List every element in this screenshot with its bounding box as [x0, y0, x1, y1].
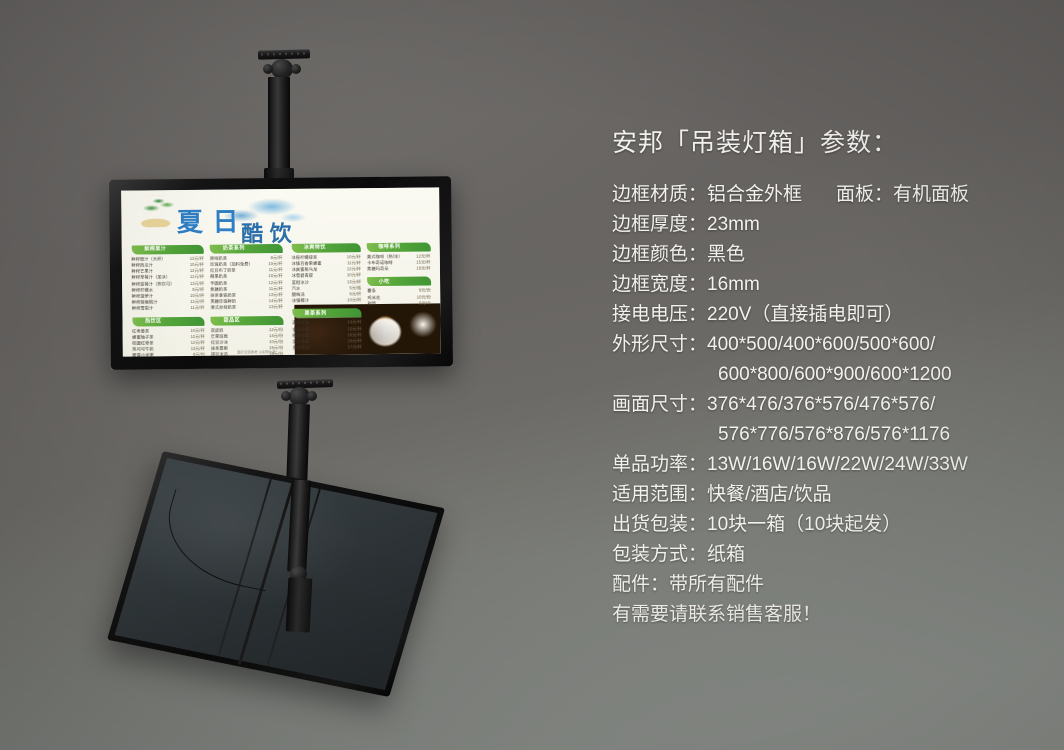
menu-section-header: 咖啡系列 [367, 242, 431, 252]
spec-row: 单品功率：13W/16W/16W/22W/24W/33W [612, 450, 1052, 480]
spec-value: 16mm [707, 270, 760, 300]
spec-row: 配件：带所有配件 [612, 570, 1052, 600]
specification-panel: 安邦「吊装灯箱」参数： 边框材质：铝合金外框面板：有机面板边框厚度：23mm边框… [612, 126, 1052, 630]
menu-section-title: 热饮区 [145, 317, 162, 325]
spec-row: 边框颜色：黑色 [612, 240, 1052, 270]
menu-item-name: 甜筒 [367, 301, 376, 307]
menu-sections-container: 鲜榨果汁鲜榨橙汁（大杯）12元/杯鲜榨西瓜汁10元/杯鲜榨芒果汁12元/杯鲜榨草… [131, 242, 434, 353]
menu-section-header: 甜品区 [211, 316, 284, 326]
spec-label: 画面尺寸： [612, 390, 707, 420]
menu-item-price: 16元/杯 [412, 266, 430, 272]
spec-value: 23mm [707, 210, 760, 240]
menu-section-header: 小吃 [367, 277, 431, 287]
spec-value: 纸箱 [707, 540, 745, 570]
menu-item-row: 甜筒5元/个 [367, 300, 430, 307]
spec-label: 单品功率： [612, 450, 707, 480]
spec-row: 边框宽度：16mm [612, 270, 1052, 300]
panel-bracket-bottom [286, 577, 313, 632]
menu-section-header: 奶茶系列 [210, 244, 283, 254]
menu-section-title: 鲜榨果汁 [144, 245, 166, 253]
spec-label: 边框厚度： [612, 210, 707, 240]
menu-item-row: 鲜榨雪梨汁11元/杯 [132, 305, 205, 312]
menu-section-header: 冰爽特饮 [291, 243, 361, 253]
menu-section-title: 甜品区 [224, 316, 241, 324]
spec-label: 边框材质： [612, 180, 707, 210]
menu-item-name: 多肉葡萄 [292, 345, 309, 351]
menu-section: 冰爽特饮冰摇柠檬绿茶10元/杯冰镇百香果蜂蜜11元/杯冰爽蜜桃乌龙12元/杯冰雪… [291, 243, 361, 304]
menu-section-header: 果茶系列 [292, 309, 362, 319]
menu-item-price: 11元/杯 [186, 305, 204, 311]
spec-extra-label: 面板： [802, 180, 893, 210]
spec-value: 220V（直接插电即可） [707, 300, 903, 330]
spec-value: 快餐/酒店/饮品 [707, 480, 832, 510]
spec-value: 13W/16W/16W/22W/24W/33W [707, 450, 968, 480]
menu-poster: 夏 日 酷 饮 鲜榨果汁鲜榨橙汁（大杯）12元/杯鲜榨西瓜汁10元/杯鲜榨芒果汁… [121, 187, 441, 356]
spec-value: 376*476/376*576/476*576/ [707, 390, 935, 420]
spec-value-continuation: 600*800/600*900/600*1200 [612, 360, 1052, 390]
spec-row: 适用范围：快餐/酒店/饮品 [612, 480, 1052, 510]
contact-note: 有需要请联系销售客服！ [612, 600, 1052, 630]
menu-item-price: 8元/份 [189, 352, 205, 356]
spec-row: 接电电压：220V（直接插电即可） [612, 300, 1052, 330]
product-photo-canvas: 夏 日 酷 饮 鲜榨果汁鲜榨橙汁（大杯）12元/杯鲜榨西瓜汁10元/杯鲜榨芒果汁… [0, 0, 1064, 750]
spec-row: 画面尺寸：376*476/376*576/476*576/ [612, 390, 1052, 420]
spec-label: 接电电压： [612, 300, 707, 330]
spec-label: 外形尺寸： [612, 330, 707, 360]
spec-value: 10块一箱（10块起发） [707, 510, 901, 540]
poster-title-char-2: 日 [212, 201, 237, 238]
drop-pole-bottom [286, 404, 310, 485]
menu-item-price: 17元/杯 [344, 344, 362, 350]
menu-item-price: 5元/个 [415, 300, 431, 306]
poster-title-char-1: 夏 [177, 202, 202, 239]
spec-value: 铝合金外框 [707, 180, 802, 210]
menu-section-title: 咖啡系列 [378, 243, 400, 251]
spec-row: 出货包装：10块一箱（10块起发） [612, 510, 1052, 540]
menu-item-name: 提拉米苏 [211, 352, 228, 357]
spec-label: 适用范围： [612, 480, 707, 510]
specification-list: 边框材质：铝合金外框面板：有机面板边框厚度：23mm边框颜色：黑色边框宽度：16… [612, 180, 1052, 600]
spec-row: 边框材质：铝合金外框面板：有机面板 [612, 180, 1052, 210]
power-cable [151, 490, 289, 592]
spec-label: 配件： [612, 570, 669, 600]
drop-pole-top [268, 77, 290, 181]
spec-value: 带所有配件 [669, 570, 764, 600]
spec-value: 400*500/400*600/500*600/ [707, 330, 935, 360]
spec-row: 包装方式：纸箱 [612, 540, 1052, 570]
lightbox-front-view: 夏 日 酷 饮 鲜榨果汁鲜榨橙汁（大杯）12元/杯鲜榨西瓜汁10元/杯鲜榨芒果汁… [109, 176, 453, 370]
lightbox-rear-view [107, 451, 445, 697]
spec-label: 边框颜色： [612, 240, 707, 270]
spec-row: 外形尺寸：400*500/400*600/500*600/ [612, 330, 1052, 360]
menu-section-title: 奶茶系列 [223, 245, 245, 253]
spec-label: 边框宽度： [612, 270, 707, 300]
menu-section: 鲜榨果汁鲜榨橙汁（大杯）12元/杯鲜榨西瓜汁10元/杯鲜榨芒果汁12元/杯鲜榨草… [131, 245, 204, 313]
spec-label: 包装方式： [612, 540, 707, 570]
ceiling-mount-plate-top [258, 49, 310, 59]
menu-section-title: 小吃 [379, 278, 390, 286]
menu-item-row: 港式丝袜奶茶13元/杯 [210, 304, 283, 311]
swivel-knob-right-bottom [307, 391, 317, 401]
menu-section: 小吃薯条8元/份鸡米花10元/份甜筒5元/个 [367, 277, 431, 307]
swivel-knob-right-top [291, 64, 301, 74]
menu-item-name: 冰镇椰汁 [292, 298, 309, 304]
swivel-joint-top [271, 59, 293, 79]
menu-item-row: 暖胃小米粥8元/份 [132, 352, 205, 356]
menu-section: 热饮区红枣姜茶10元/杯蜂蜜柚子茶12元/杯桂圆红枣茶12元/杯热可可牛奶13元… [132, 316, 205, 356]
poster-title-art: 夏 日 酷 饮 [134, 192, 313, 247]
menu-section-header: 鲜榨果汁 [131, 245, 204, 255]
poster-credit-text: 图片仅供参考 以实物为准 [237, 349, 275, 354]
menu-item-row: 多肉葡萄17元/杯 [292, 344, 362, 351]
spec-row: 边框厚度：23mm [612, 210, 1052, 240]
lightbox-rear-frame [107, 451, 445, 697]
rear-support-rail-left [217, 479, 271, 656]
menu-section-title: 冰爽特饮 [304, 244, 326, 252]
menu-item-price: 13元/杯 [265, 304, 283, 310]
menu-item-name: 暖胃小米粥 [132, 353, 154, 357]
menu-item-name: 港式丝袜奶茶 [210, 305, 236, 311]
lightbox-panel-screen: 夏 日 酷 饮 鲜榨果汁鲜榨橙汁（大杯）12元/杯鲜榨西瓜汁10元/杯鲜榨芒果汁… [121, 187, 441, 356]
menu-item-price: 10元/杯 [343, 297, 361, 303]
menu-item-row: 焦糖玛奇朵16元/杯 [367, 266, 430, 273]
menu-section: 奶茶系列原味奶茶8元/杯珍珠奶茶（加料免费）10元/杯红豆布丁奶茶11元/杯椰果… [210, 244, 283, 312]
menu-section: 果茶系列满杯红柚14元/杯金桔柠檬12元/杯杨枝甘露16元/杯芝士莓莓16元/杯… [292, 309, 362, 352]
swivel-knob-left-bottom [281, 391, 291, 401]
swivel-knob-left-top [263, 64, 273, 74]
menu-item-row: 冰镇椰汁10元/杯 [292, 297, 362, 304]
menu-item-name: 焦糖玛奇朵 [367, 266, 389, 272]
spec-extra-value: 有机面板 [893, 180, 969, 210]
spec-label: 出货包装： [612, 510, 707, 540]
spec-value: 黑色 [707, 240, 745, 270]
page-title: 安邦「吊装灯箱」参数： [612, 126, 1052, 160]
menu-section: 咖啡系列美式咖啡（热/冰）12元/杯卡布奇诺咖啡15元/杯焦糖玛奇朵16元/杯 [367, 242, 431, 272]
menu-section-header: 热饮区 [132, 316, 205, 326]
menu-item-name: 鲜榨雪梨汁 [132, 306, 154, 312]
lightbox-rear-panel [115, 458, 438, 690]
spec-value-continuation: 576*776/576*876/576*1176 [612, 420, 1052, 450]
lightbox-aluminum-frame: 夏 日 酷 饮 鲜榨果汁鲜榨橙汁（大杯）12元/杯鲜榨西瓜汁10元/杯鲜榨芒果汁… [109, 176, 453, 370]
menu-section-title: 果茶系列 [305, 309, 327, 317]
